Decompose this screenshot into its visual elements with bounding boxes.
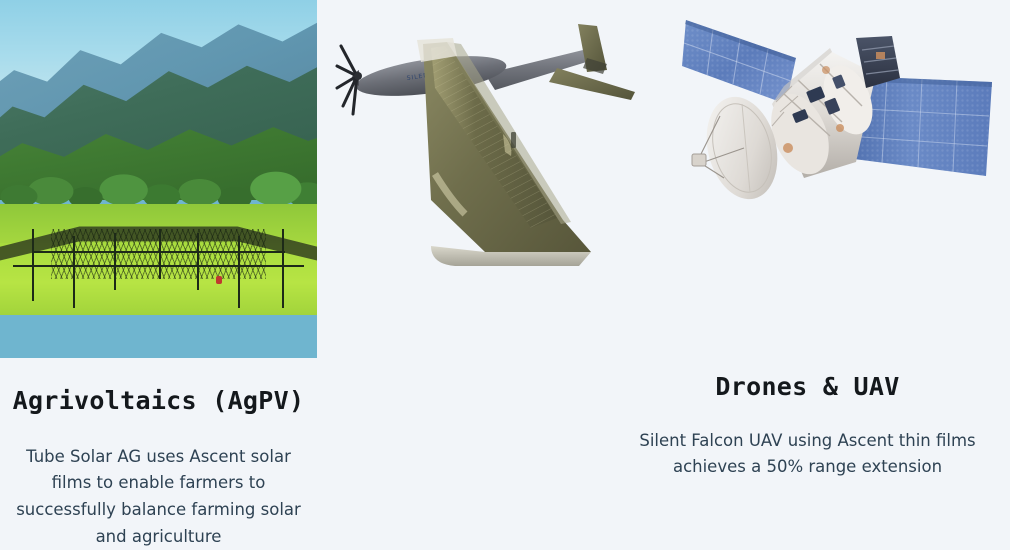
canopy-post <box>282 229 284 308</box>
canopy-rail <box>13 265 305 267</box>
canopy-post <box>197 233 199 290</box>
canopy-rail <box>32 251 286 253</box>
solar-array-left <box>682 20 796 104</box>
uav-illustration: SILENT FALCON <box>335 14 647 282</box>
uav-tail-group <box>485 24 635 100</box>
satellite-svg <box>680 8 998 232</box>
feature-columns-section: Agrivoltaics (AgPV) Tube Solar AG uses A… <box>0 0 1010 539</box>
uav-image: SILENT FALCON <box>335 14 647 282</box>
agrivoltaics-heading: Agrivoltaics (AgPV) <box>0 386 317 416</box>
horizontal-stabilizer <box>549 68 635 100</box>
farm-worker-marker <box>216 276 222 284</box>
canopy-post <box>73 236 75 308</box>
agrivoltaics-photo-art <box>0 0 317 358</box>
canopy-post <box>159 229 161 279</box>
agrivoltaics-body: Tube Solar AG uses Ascent solar films to… <box>0 444 317 550</box>
satellite-image <box>680 8 998 232</box>
feature-column-drones-uav: SILENT FALCON <box>317 0 664 539</box>
agrivoltaics-image <box>0 0 317 358</box>
canopy-post <box>114 233 116 290</box>
feature-column-agrivoltaics: Agrivoltaics (AgPV) Tube Solar AG uses A… <box>0 0 317 539</box>
satellite-illustration <box>680 8 998 232</box>
uav-svg: SILENT FALCON <box>335 14 647 282</box>
feature-column-space-defense: Space & Defense NASA tests validate Asce… <box>664 0 1010 539</box>
agrivoltaics-caption: Agrivoltaics (AgPV) Tube Solar AG uses A… <box>0 386 317 550</box>
canopy-post <box>238 236 240 308</box>
dish-feed-horn <box>692 154 706 166</box>
